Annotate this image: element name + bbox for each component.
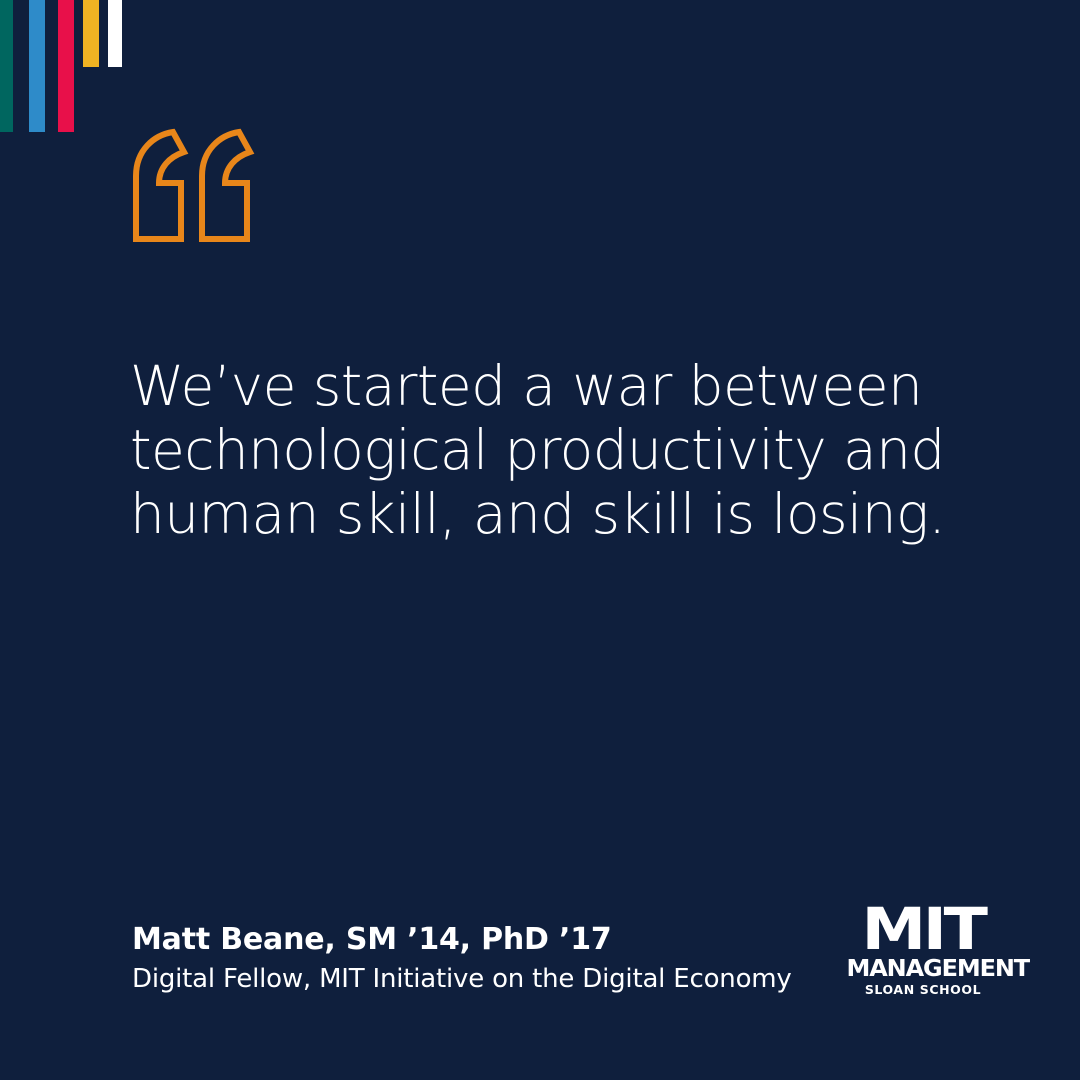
quote-text: We’ve started a war between technologica…	[130, 355, 960, 546]
color-bar-red	[58, 0, 74, 132]
open-quote-icon	[128, 128, 280, 248]
logo-management-text: MANAGEMENT	[847, 956, 1000, 981]
attribution: Matt Beane, SM ’14, PhD ’17 Digital Fell…	[132, 921, 812, 995]
color-bar-teal	[0, 0, 13, 132]
color-bar-yellow	[83, 0, 99, 67]
color-bar-group	[0, 0, 140, 140]
quote-card: We’ve started a war between technologica…	[0, 0, 1080, 1080]
mit-sloan-logo: MIT MANAGEMENT SLOAN SCHOOL	[848, 906, 998, 997]
logo-mit-text: MIT	[839, 906, 1007, 954]
logo-sloan-school-text: SLOAN SCHOOL	[848, 983, 998, 997]
color-bar-white	[108, 0, 122, 67]
attribution-role: Digital Fellow, MIT Initiative on the Di…	[132, 963, 812, 996]
color-bar-blue	[29, 0, 45, 132]
attribution-name: Matt Beane, SM ’14, PhD ’17	[132, 921, 812, 959]
